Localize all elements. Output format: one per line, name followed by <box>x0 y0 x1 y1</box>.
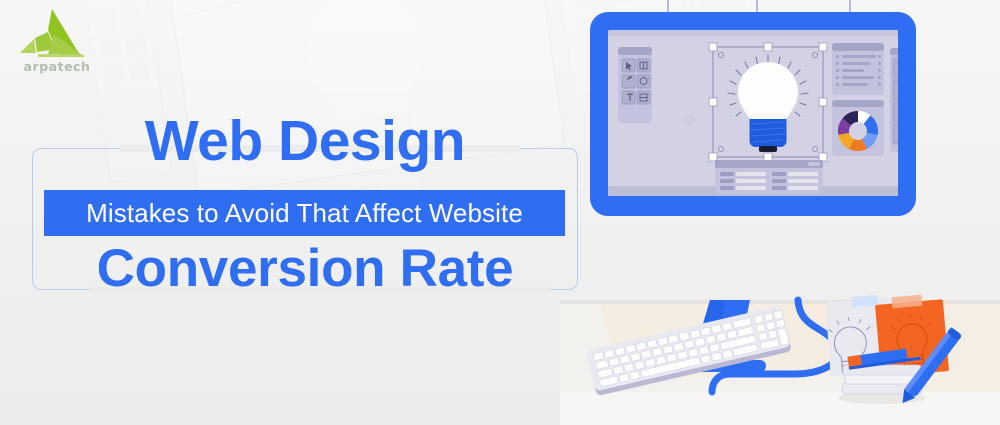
brand-logo[interactable]: arpatech <box>8 8 100 80</box>
donut-chart-panel <box>832 100 884 156</box>
designer-desk-illustration <box>560 0 1000 425</box>
headline-line-1: Web Design <box>32 110 578 172</box>
banner-root: arpatech Web Design Mistakes to Avoid Th… <box>0 0 1000 425</box>
headline-line-2: Mistakes to Avoid That Affect Website <box>86 198 523 229</box>
left-toolbar-panel <box>618 47 652 123</box>
brand-name: arpatech <box>17 60 97 74</box>
headline-line-3: Conversion Rate <box>32 238 578 300</box>
data-table-panel <box>715 160 823 194</box>
headline-subtitle-bar: Mistakes to Avoid That Affect Website <box>44 190 565 236</box>
arpatech-triangle-logo-icon <box>18 8 90 60</box>
layers-list-panel <box>832 43 884 95</box>
headline-block: Web Design Mistakes to Avoid That Affect… <box>32 148 578 290</box>
